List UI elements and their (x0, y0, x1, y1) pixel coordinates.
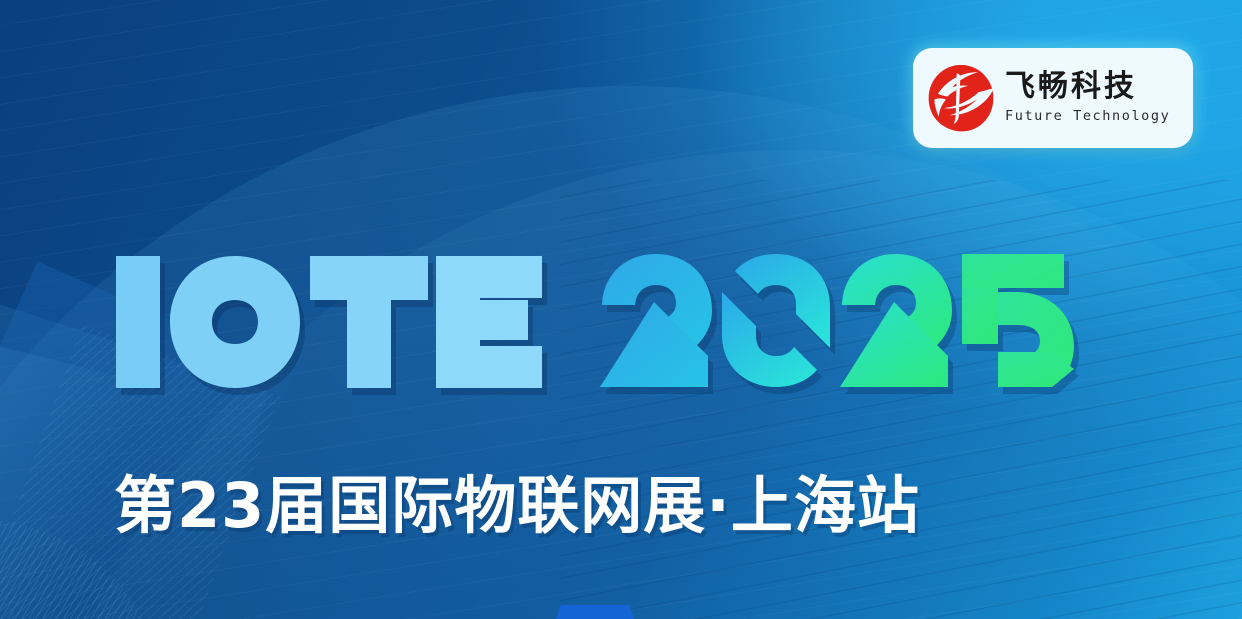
letter-O-icon (164, 248, 306, 393)
iote-2025-wordmark (112, 248, 1078, 393)
digit-5-icon (956, 248, 1078, 393)
year-2025-digits (596, 248, 1078, 393)
event-subtitle: 第23届国际物联网展·上海站 (114, 455, 920, 545)
background-diagonal-wave-lines-right (560, 180, 1242, 619)
bottom-accent-tab (556, 605, 634, 619)
digit-0-icon (716, 248, 836, 393)
letter-E-icon (432, 248, 546, 393)
company-name-block: 飞畅科技 Future Technology (1005, 72, 1170, 124)
company-logo-card[interactable]: 飞畅科技 Future Technology (913, 48, 1193, 148)
iote-2025-banner: 飞畅科技 Future Technology (0, 0, 1242, 619)
digit-2-second-icon (836, 248, 956, 393)
digit-2-first-icon (596, 248, 716, 393)
company-name-cn: 飞畅科技 (1005, 72, 1170, 102)
feichang-emblem-icon (925, 62, 997, 134)
letter-I-icon (112, 248, 164, 393)
company-name-en: Future Technology (1005, 110, 1170, 124)
letter-T-icon (306, 248, 432, 393)
iote-letters (112, 248, 546, 393)
